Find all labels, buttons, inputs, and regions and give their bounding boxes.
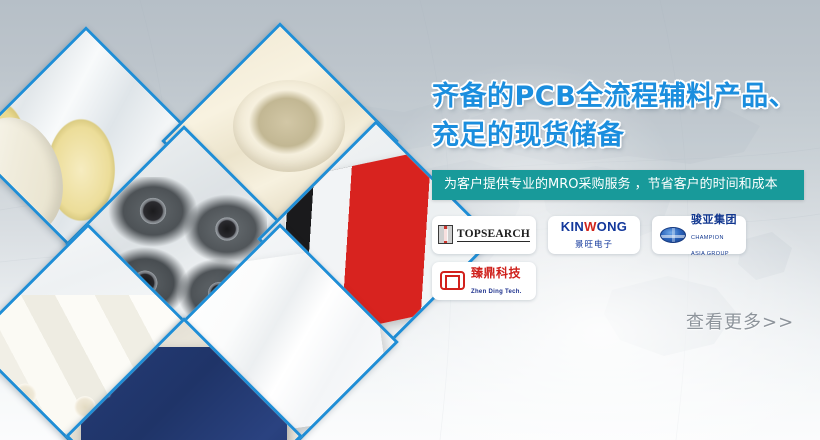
partner-logo-grid: TOPSEARCH KINWONG 景旺电子 骏亚集团 CHAMPION ASI: [432, 216, 804, 300]
logo-row-1: TOPSEARCH KINWONG 景旺电子 骏亚集团 CHAMPION ASI: [432, 216, 804, 254]
topsearch-wordmark: TOPSEARCH: [457, 228, 530, 242]
champion-asia-english-name: CHAMPION ASIA GROUP: [691, 235, 729, 257]
headline-line-2: 充足的现货储备: [432, 117, 804, 156]
banner-headline: 齐备的PCB全流程辅料产品、 充足的现货储备: [432, 78, 804, 156]
kinwong-lockup: KINWONG 景旺电子: [556, 219, 632, 251]
zhen-ding-mark-icon: [440, 271, 465, 290]
zhen-ding-english-name: Zhen Ding Tech.: [471, 289, 522, 295]
topsearch-mark-icon: [438, 225, 453, 244]
partner-logo-topsearch[interactable]: TOPSEARCH: [432, 216, 536, 254]
globe-icon: [660, 227, 686, 243]
kinwong-wordmark: KINWONG: [561, 219, 627, 234]
promo-banner: JIE 齐备的PCB全流程辅料产品、 充足的现货储备 为客户提供专业的MRO采购…: [0, 0, 820, 440]
champion-asia-text: 骏亚集团 CHAMPION ASIA GROUP: [691, 211, 738, 259]
zhen-ding-chinese-name: 臻鼎科技: [471, 266, 521, 280]
zhen-ding-text: 臻鼎科技 Zhen Ding Tech.: [471, 265, 528, 297]
champion-asia-chinese-name: 骏亚集团: [691, 213, 737, 226]
banner-content: 齐备的PCB全流程辅料产品、 充足的现货储备 为客户提供专业的MRO采购服务 ，…: [432, 78, 804, 300]
partner-logo-kinwong[interactable]: KINWONG 景旺电子: [548, 216, 640, 254]
kinwong-word-a: KIN: [561, 219, 584, 234]
product-diamond-collage: JIE: [0, 0, 420, 440]
kinwong-word-b: ONG: [597, 219, 628, 234]
protective-film-label: JIE: [228, 335, 267, 363]
view-more-link[interactable]: 查看更多>>: [686, 308, 794, 334]
zhen-ding-lockup: 臻鼎科技 Zhen Ding Tech.: [440, 265, 528, 297]
topsearch-lockup: TOPSEARCH: [438, 225, 530, 244]
partner-logo-zhen-ding[interactable]: 臻鼎科技 Zhen Ding Tech.: [432, 262, 536, 300]
logo-row-2: 臻鼎科技 Zhen Ding Tech.: [432, 262, 804, 300]
champion-asia-lockup: 骏亚集团 CHAMPION ASIA GROUP: [660, 211, 738, 259]
banner-subtitle-bar: 为客户提供专业的MRO采购服务 ，节省客户的时间和成本: [432, 170, 804, 200]
kinwong-chinese-name: 景旺电子: [575, 240, 613, 250]
kinwong-word-w: W: [584, 219, 597, 234]
partner-logo-champion-asia[interactable]: 骏亚集团 CHAMPION ASIA GROUP: [652, 216, 746, 254]
headline-line-1: 齐备的PCB全流程辅料产品、: [432, 81, 796, 112]
